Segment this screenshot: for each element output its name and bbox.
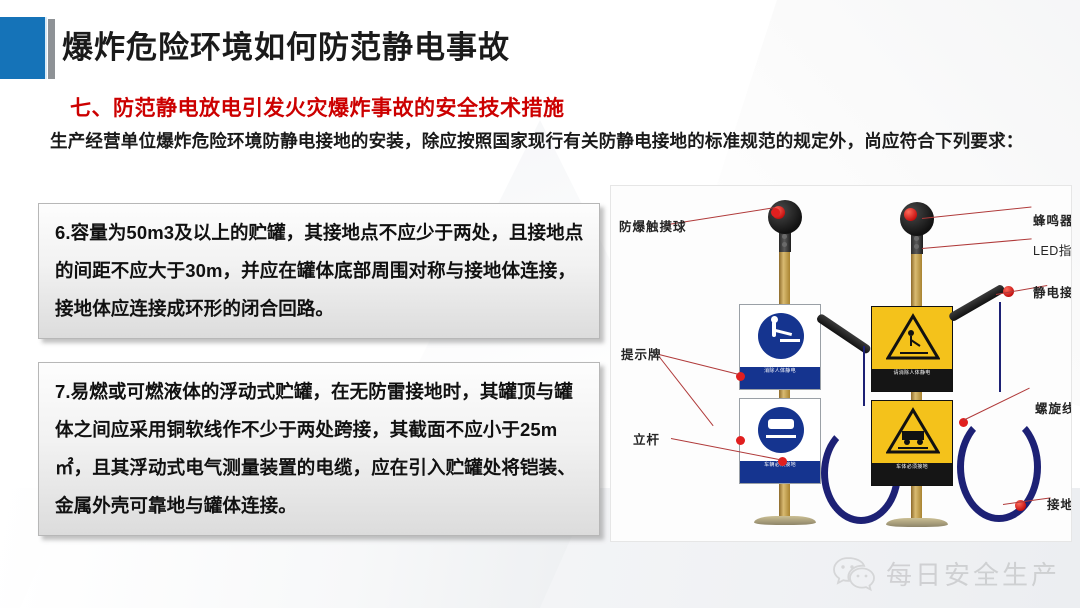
label-led-lamp: LED指示灯 <box>1033 240 1072 259</box>
right-led-indicator <box>914 236 919 241</box>
requirement-text-6: 6.容量为50m3及以上的贮罐，其接地点不应少于两处，且接地点的间距不应大于30… <box>55 214 585 328</box>
right-spiral-coil <box>957 412 1041 522</box>
sign-yellow-truck-strip: 车体必须接地 <box>872 463 952 485</box>
section-heading: 七、防范静电放电引发火灾爆炸事故的安全技术措施 <box>70 92 565 122</box>
sign-blue-touch-pictogram-head <box>771 316 778 323</box>
callout-dot-touch-ball <box>771 208 780 217</box>
label-buzzer: 蜂鸣器 <box>1033 210 1072 229</box>
requirement-text-7: 7.易燃或可燃液体的浮动式贮罐，在无防雷接地时，其罐顶与罐体之间应采用铜软线作不… <box>55 373 585 525</box>
sign-blue-touch-circle <box>758 313 804 359</box>
sign-yellow-truck-pictogram <box>886 407 940 455</box>
sign-blue-touch: 消除人体静电 <box>739 304 821 390</box>
requirement-box-7: 7.易燃或可燃液体的浮动式贮罐，在无防雷接地时，其罐顶与罐体之间应采用铜软线作不… <box>38 362 600 536</box>
label-pole: 立杆 <box>633 429 660 448</box>
label-spiral-cable: 螺旋线 <box>1035 398 1072 417</box>
right-pole-base <box>886 518 948 527</box>
page-title: 爆炸危险环境如何防范静电事故 <box>62 17 510 79</box>
right-spiral-wire-top <box>999 302 1001 392</box>
sign-yellow-touch: 请消除人体静电 <box>871 306 953 392</box>
sign-yellow-touch-strip: 请消除人体静电 <box>872 369 952 391</box>
sign-blue-truck-pictogram-ground <box>766 435 796 438</box>
sign-blue-truck-pictogram-body <box>768 419 794 429</box>
wechat-icon <box>832 556 876 592</box>
label-touch-ball: 防爆触摸球 <box>619 216 687 235</box>
right-ground-clamp <box>948 284 1006 323</box>
header-accent-square <box>0 17 47 79</box>
left-led-indicator <box>782 234 787 239</box>
equipment-illustration: 消除人体静电 车辆必须接地 <box>611 186 1071 541</box>
watermark-text: 每日安全生产 <box>886 555 1060 592</box>
label-sign-board: 提示牌 <box>621 344 662 363</box>
right-touch-ball-red-button <box>904 208 917 221</box>
sign-yellow-touch-pictogram <box>886 313 940 361</box>
callout-line-buzzer <box>922 207 1032 219</box>
requirement-text-7-part2: ，且其浮动式电气测量装置的电缆，应在引入贮罐处将铠装、金属外壳可靠地与罐体连接。 <box>55 457 576 516</box>
equipment-photo-panel: 消除人体静电 车辆必须接地 <box>610 185 1072 542</box>
callout-line-led <box>922 238 1032 249</box>
label-ground-wire: 接地线 <box>1047 494 1072 513</box>
sign-yellow-truck: 车体必须接地 <box>871 400 953 486</box>
left-pole-base <box>754 516 816 525</box>
sign-blue-touch-strip: 消除人体静电 <box>740 367 820 389</box>
left-led-indicator-2 <box>782 242 787 247</box>
sign-blue-truck-circle <box>758 407 804 453</box>
label-ground-clamp: 静电接地夹 <box>1033 282 1072 301</box>
right-led-indicator-2 <box>914 244 919 249</box>
slide-root: 爆炸危险环境如何防范静电事故 七、防范静电放电引发火灾爆炸事故的安全技术措施 生… <box>0 0 1080 608</box>
header-accent-bar <box>48 19 55 79</box>
sign-blue-truck: 车辆必须接地 <box>739 398 821 484</box>
left-spiral-wire-top <box>863 346 865 406</box>
callout-dot-sign-board-2 <box>736 436 745 445</box>
requirement-box-6: 6.容量为50m3及以上的贮罐，其接地点不应少于两处，且接地点的间距不应大于30… <box>38 203 600 339</box>
watermark: 每日安全生产 <box>832 555 1060 592</box>
sign-blue-touch-pictogram-plate <box>780 339 800 342</box>
intro-paragraph: 生产经营单位爆炸危险环境防静电接地的安装，除应按照国家现行有关防静电接地的标准规… <box>50 126 1060 156</box>
